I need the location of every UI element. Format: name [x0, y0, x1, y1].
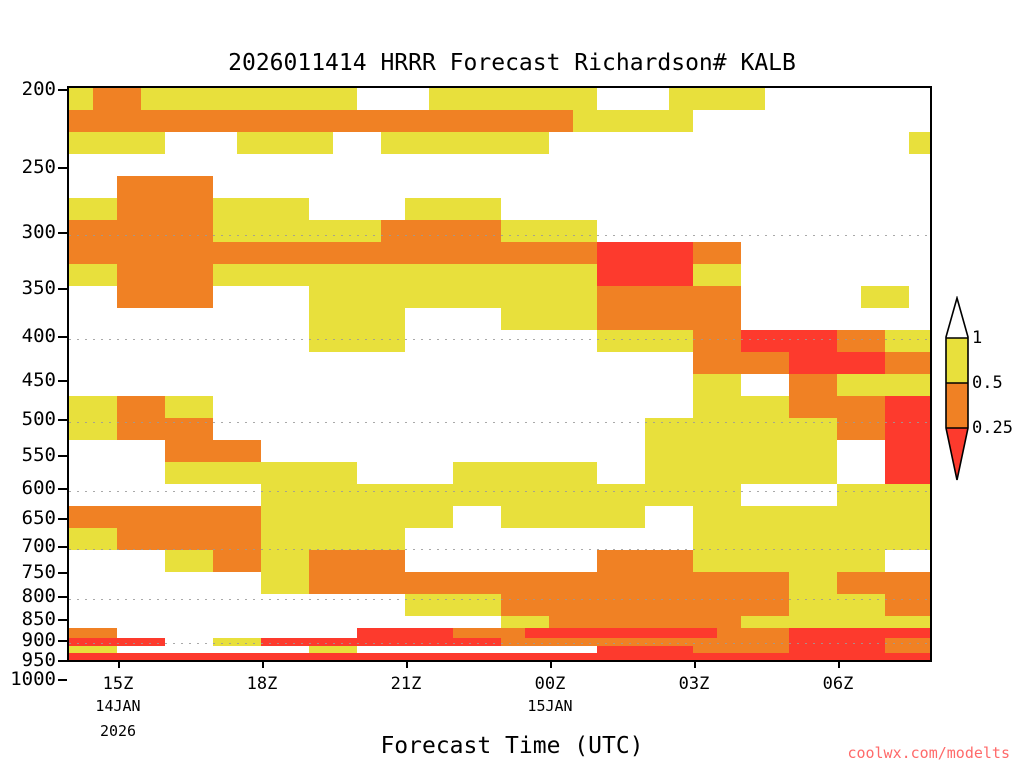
y-tick-mark-950: [58, 660, 67, 662]
gridline-400: [69, 339, 930, 340]
heatmap-cell: [69, 88, 93, 110]
heatmap-cell: [837, 572, 930, 594]
y-tick-mark-300: [58, 232, 67, 234]
heatmap-cell: [693, 550, 885, 572]
y-tick-mark-1000: [58, 679, 67, 681]
heatmap-cell: [501, 506, 645, 528]
page-title: 2026011414 HRRR Forecast Richardson# KAL…: [0, 50, 1024, 76]
gridline-300: [69, 235, 930, 236]
y-tick-mark-900: [58, 640, 67, 642]
heatmap-cell: [789, 638, 885, 646]
heatmap-cell: [165, 462, 357, 484]
heatmap-cell: [381, 220, 501, 242]
heatmap-cell: [213, 638, 261, 646]
heatmap-cell: [885, 462, 930, 484]
heatmap-cell: [597, 646, 693, 653]
x-tick-mark-21Z: [406, 660, 408, 668]
heatmap-cell: [69, 132, 165, 154]
heatmap-cell: [117, 198, 213, 220]
heatmap-cell: [501, 616, 549, 628]
heatmap-cell: [69, 110, 573, 132]
y-tick-label-200: 200: [22, 78, 56, 100]
heatmap-cell: [693, 506, 930, 528]
heatmap-cell: [453, 462, 597, 484]
heatmap-cell: [597, 308, 741, 330]
heatmap-cell: [885, 330, 930, 352]
x-date-label-14JAN: 14JAN: [73, 697, 163, 715]
y-tick-mark-650: [58, 518, 67, 520]
heatmap-cell: [501, 308, 597, 330]
y-tick-label-800: 800: [22, 585, 56, 607]
heatmap-cell: [69, 528, 117, 550]
colorbar-label-1: 1: [972, 328, 982, 348]
heatmap-cell: [501, 220, 597, 242]
y-tick-label-600: 600: [22, 477, 56, 499]
gridline-900: [69, 643, 930, 644]
y-tick-mark-750: [58, 572, 67, 574]
y-tick-label-700: 700: [22, 535, 56, 557]
heatmap-cell: [885, 594, 930, 616]
y-tick-label-450: 450: [22, 369, 56, 391]
colorbar-arrow-above: [946, 298, 968, 338]
heatmap-cell: [117, 528, 261, 550]
x-tick-mark-18Z: [262, 660, 264, 668]
y-tick-label-350: 350: [22, 277, 56, 299]
heatmap-cell: [717, 628, 789, 638]
heatmap-cell: [597, 264, 693, 286]
heatmap-cell: [693, 396, 789, 418]
x-tick-mark-00Z: [550, 660, 552, 668]
y-tick-mark-350: [58, 288, 67, 290]
heatmap-cell: [501, 594, 789, 616]
heatmap-cell: [261, 572, 309, 594]
heatmap-cell: [69, 638, 165, 646]
heatmap-cell: [309, 550, 405, 572]
heatmap-cell: [693, 264, 741, 286]
gridline-800: [69, 599, 930, 600]
heatmap-cell: [789, 628, 930, 638]
heatmap-cell: [165, 550, 213, 572]
x-tick-mark-06Z: [838, 660, 840, 668]
chart-root: 2026011414 HRRR Forecast Richardson# KAL…: [0, 0, 1024, 768]
heatmap-cell: [573, 110, 693, 132]
heatmap-cell: [741, 330, 837, 352]
heatmap-cell: [405, 594, 501, 616]
gridline-700: [69, 549, 930, 550]
heatmap-cell: [789, 374, 837, 396]
heatmap-cell: [693, 374, 741, 396]
heatmap-cell: [261, 528, 405, 550]
y-tick-mark-450: [58, 380, 67, 382]
heatmap-cell: [69, 220, 213, 242]
heatmap-cell: [789, 396, 885, 418]
heatmap-cell: [549, 616, 741, 628]
y-tick-mark-500: [58, 419, 67, 421]
heatmap-cell: [261, 550, 309, 572]
y-tick-mark-250: [58, 167, 67, 169]
heatmap-cell: [69, 646, 117, 653]
watermark: coolwx.com/modelts: [847, 744, 1010, 762]
y-tick-mark-700: [58, 546, 67, 548]
heatmap-cell: [909, 132, 930, 154]
y-tick-label-400: 400: [22, 325, 56, 347]
x-tick-label-15Z: 15Z: [78, 674, 158, 694]
heatmap-cell: [837, 484, 930, 506]
heatmap-cell: [405, 198, 501, 220]
heatmap-cell: [213, 220, 381, 242]
heatmap-cell: [693, 646, 789, 653]
heatmap-cell: [885, 646, 930, 653]
heatmap-cell: [501, 638, 789, 646]
heatmap-cell: [69, 198, 117, 220]
heatmap-cell: [837, 330, 885, 352]
x-date-label-15JAN: 15JAN: [505, 697, 595, 715]
heatmap-cell: [597, 550, 693, 572]
heatmap-cell: [69, 264, 117, 286]
heatmap-cell: [309, 646, 357, 653]
x-tick-label-18Z: 18Z: [222, 674, 302, 694]
y-tick-mark-550: [58, 455, 67, 457]
x-tick-mark-03Z: [694, 660, 696, 668]
heatmap-cell: [213, 198, 309, 220]
heatmap-cell: [645, 440, 837, 462]
heatmap-cell: [309, 330, 405, 352]
heatmap-cell: [789, 646, 885, 653]
y-tick-label-300: 300: [22, 221, 56, 243]
heatmap-cell: [861, 286, 909, 308]
heatmap-cell: [69, 653, 930, 660]
heatmap-cell: [69, 396, 117, 418]
heatmap-cell: [165, 396, 213, 418]
heatmap-cell: [261, 484, 741, 506]
heatmap-cell: [237, 132, 333, 154]
heatmap-cell: [789, 594, 885, 616]
heatmap-cell: [597, 242, 693, 264]
x-tick-label-00Z: 00Z: [510, 674, 590, 694]
y-tick-label-900: 900: [22, 629, 56, 651]
heatmap-cell: [141, 88, 357, 110]
y-tick-mark-850: [58, 619, 67, 621]
heatmap-cell: [117, 176, 213, 198]
y-tick-mark-800: [58, 596, 67, 598]
heatmap-cell: [261, 506, 453, 528]
heatmap-cell: [117, 264, 213, 286]
colorbar-band-high: [946, 338, 968, 383]
x-tick-mark-15Z: [118, 660, 120, 668]
heatmap-cell: [885, 638, 930, 646]
y-tick-label-1000: 1000: [10, 668, 56, 690]
heatmap-cell: [693, 352, 789, 374]
x-tick-label-03Z: 03Z: [654, 674, 734, 694]
heatmap-cell: [885, 396, 930, 418]
heatmap-cell: [261, 638, 501, 646]
heatmap-cell: [597, 330, 693, 352]
plot-area: [67, 86, 932, 662]
y-tick-label-250: 250: [22, 156, 56, 178]
y-tick-mark-600: [58, 488, 67, 490]
heatmap-cell: [597, 286, 741, 308]
heatmap-cell: [789, 352, 885, 374]
heatmap-cell: [357, 628, 453, 638]
heatmap-cell: [837, 374, 930, 396]
heatmap-cell: [69, 242, 597, 264]
colorbar-arrow-low: [946, 428, 968, 480]
heatmap-cell: [69, 628, 117, 638]
heatmap-cell: [309, 572, 789, 594]
y-tick-label-650: 650: [22, 507, 56, 529]
heatmap-cell: [429, 88, 597, 110]
heatmap-canvas: [69, 88, 930, 660]
heatmap-cell: [885, 440, 930, 462]
heatmap-cell: [885, 352, 930, 374]
heatmap-cell: [453, 628, 525, 638]
colorbar-legend: 1 0.5 0.25: [938, 296, 1024, 482]
heatmap-cell: [789, 572, 837, 594]
heatmap-cell: [669, 88, 765, 110]
heatmap-cell: [69, 506, 261, 528]
gridline-600: [69, 491, 930, 492]
heatmap-cell: [117, 396, 165, 418]
heatmap-cell: [213, 264, 597, 286]
colorbar-label-025: 0.25: [972, 418, 1013, 438]
heatmap-cell: [693, 330, 741, 352]
y-tick-label-550: 550: [22, 444, 56, 466]
heatmap-cell: [741, 616, 930, 628]
y-tick-label-500: 500: [22, 408, 56, 430]
heatmap-cell: [381, 132, 549, 154]
heatmap-cell: [213, 550, 261, 572]
x-tick-label-21Z: 21Z: [366, 674, 446, 694]
heatmap-cell: [693, 528, 930, 550]
gridline-500: [69, 422, 930, 423]
y-tick-mark-400: [58, 336, 67, 338]
x-tick-label-06Z: 06Z: [798, 674, 878, 694]
heatmap-cell: [165, 440, 261, 462]
colorbar-band-mid: [946, 383, 968, 428]
y-tick-label-750: 750: [22, 561, 56, 583]
heatmap-cell: [309, 286, 597, 308]
y-tick-mark-200: [58, 89, 67, 91]
heatmap-cell: [645, 462, 837, 484]
y-tick-label-850: 850: [22, 608, 56, 630]
heatmap-cell: [93, 88, 141, 110]
heatmap-cell: [309, 308, 405, 330]
heatmap-cell: [117, 286, 213, 308]
heatmap-cell: [525, 628, 717, 638]
colorbar-label-05: 0.5: [972, 373, 1003, 393]
heatmap-cell: [693, 242, 741, 264]
